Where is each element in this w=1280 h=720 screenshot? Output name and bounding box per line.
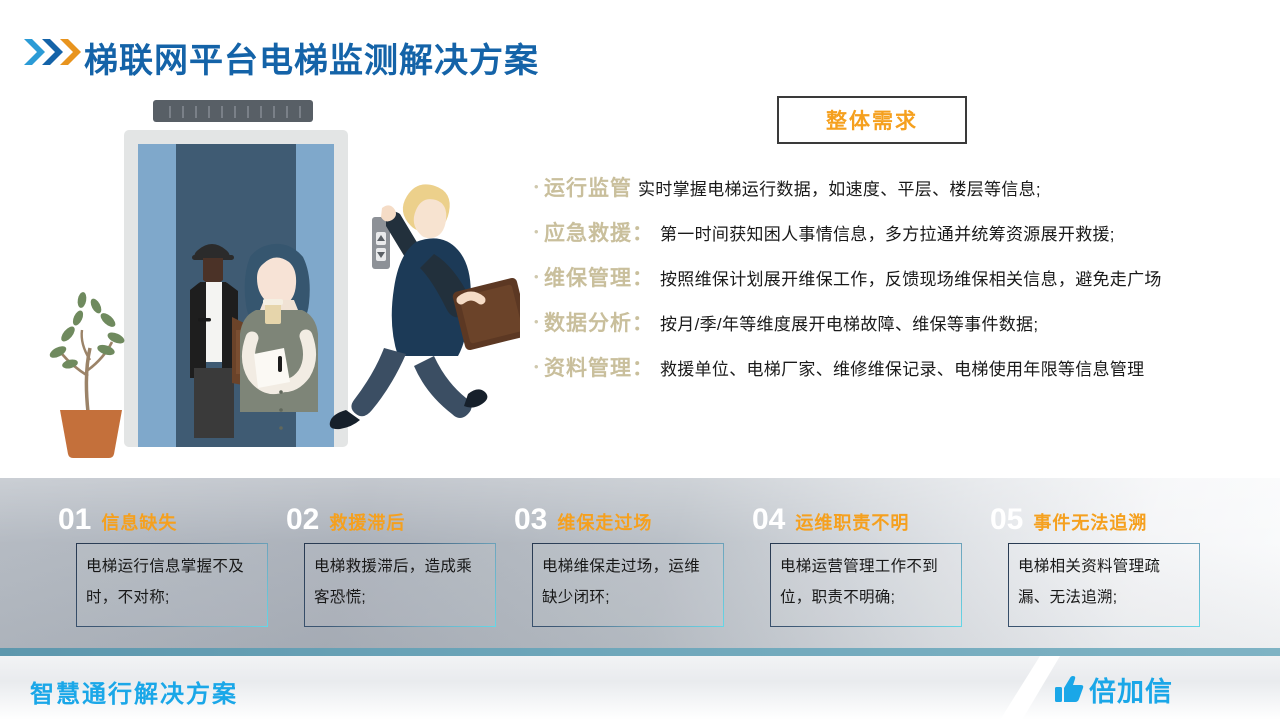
page-header: 梯联网平台电梯监测解决方案: [0, 0, 1280, 92]
overall-requirement-label: 整体需求: [826, 105, 918, 135]
card-title: 维保走过场: [557, 508, 652, 538]
requirement-label: 数据分析：: [544, 307, 654, 337]
requirement-label: 运行监管: [544, 172, 632, 202]
card-title: 信息缺失: [101, 508, 177, 538]
bullet-dot-icon: •: [534, 360, 544, 373]
person-walking-with-briefcase: [330, 184, 520, 429]
passenger-woman-with-coffee: [240, 244, 318, 430]
card-body: 电梯运行信息掌握不及时，不对称;: [76, 543, 268, 627]
card-body: 电梯运营管理工作不到位，职责不明确;: [770, 543, 962, 627]
list-item: • 运行监管 实时掌握电梯运行数据，如速度、平层、楼层等信息;: [534, 172, 1264, 217]
card-text: 电梯相关资料管理疏漏、无法追溯;: [1018, 551, 1190, 613]
card-text: 电梯维保走过场，运维缺少闭环;: [542, 551, 714, 613]
elevator-lobby-illustration: [20, 92, 520, 462]
card-text: 电梯运营管理工作不到位，职责不明确;: [780, 551, 952, 613]
card-number: 03: [514, 505, 547, 535]
card-number: 04: [752, 505, 785, 535]
overall-requirement-box: 整体需求: [777, 96, 967, 144]
footer-title: 智慧通行解决方案: [30, 674, 238, 709]
card-title: 事件无法追溯: [1033, 508, 1147, 538]
card-body: 电梯相关资料管理疏漏、无法追溯;: [1008, 543, 1200, 627]
pain-point-card-02: 02 救援滞后 电梯救援滞后，造成乘客恐慌;: [278, 505, 518, 627]
pain-points-cards: 01 信息缺失 电梯运行信息掌握不及时，不对称; 02 救援滞后 电梯救援滞后，…: [0, 505, 1280, 640]
brand-name: 倍加信: [1089, 670, 1173, 709]
card-number: 05: [990, 505, 1023, 535]
card-header: 04 运维职责不明: [744, 505, 984, 539]
bullet-dot-icon: •: [534, 180, 544, 193]
pain-point-card-05: 05 事件无法追溯 电梯相关资料管理疏漏、无法追溯;: [982, 505, 1222, 627]
pain-point-card-01: 01 信息缺失 电梯运行信息掌握不及时，不对称;: [50, 505, 290, 627]
requirement-text: 实时掌握电梯运行数据，如速度、平层、楼层等信息;: [638, 175, 1041, 200]
list-item: • 数据分析： 按月/季/年等维度展开电梯故障、维保等事件数据;: [534, 307, 1264, 352]
potted-plant: [48, 291, 126, 458]
card-number: 02: [286, 505, 319, 535]
card-number: 01: [58, 505, 91, 535]
card-body: 电梯维保走过场，运维缺少闭环;: [532, 543, 724, 627]
page-title: 梯联网平台电梯监测解决方案: [84, 33, 539, 82]
card-body: 电梯救援滞后，造成乘客恐慌;: [304, 543, 496, 627]
requirement-label: 资料管理：: [544, 352, 654, 382]
thumbs-up-icon: [1055, 676, 1085, 704]
requirement-text: 按照维保计划展开维保工作，反馈现场维保相关信息，避免走广场: [660, 265, 1162, 290]
card-text: 电梯救援滞后，造成乘客恐慌;: [314, 551, 486, 613]
brand-logo: 倍加信: [1055, 670, 1173, 709]
page-footer: 智慧通行解决方案 倍加信: [0, 656, 1280, 720]
list-item: • 应急救援： 第一时间获知困人事情信息，多方拉通并统筹资源展开救援;: [534, 217, 1264, 262]
card-header: 03 维保走过场: [506, 505, 746, 539]
list-item: • 维保管理： 按照维保计划展开维保工作，反馈现场维保相关信息，避免走广场: [534, 262, 1264, 307]
pain-point-card-03: 03 维保走过场 电梯维保走过场，运维缺少闭环;: [506, 505, 746, 627]
card-title: 救援滞后: [329, 508, 405, 538]
card-title: 运维职责不明: [795, 508, 909, 538]
overhead-floor-indicator-sign: [153, 100, 313, 122]
triple-chevron-right-icon: [22, 36, 84, 68]
bullet-dot-icon: •: [534, 315, 544, 328]
card-text: 电梯运行信息掌握不及时，不对称;: [86, 551, 258, 613]
list-item: • 资料管理： 救援单位、电梯厂家、维修维保记录、电梯使用年限等信息管理: [534, 352, 1264, 397]
requirement-list: • 运行监管 实时掌握电梯运行数据，如速度、平层、楼层等信息; • 应急救援： …: [534, 172, 1264, 397]
card-header: 05 事件无法追溯: [982, 505, 1222, 539]
requirement-text: 按月/季/年等维度展开电梯故障、维保等事件数据;: [660, 310, 1038, 335]
card-header: 02 救援滞后: [278, 505, 518, 539]
bullet-dot-icon: •: [534, 270, 544, 283]
requirement-text: 第一时间获知困人事情信息，多方拉通并统筹资源展开救援;: [660, 220, 1115, 245]
card-header: 01 信息缺失: [50, 505, 290, 539]
requirement-label: 应急救援：: [544, 217, 654, 247]
bullet-dot-icon: •: [534, 225, 544, 238]
requirement-label: 维保管理：: [544, 262, 654, 292]
pain-point-card-04: 04 运维职责不明 电梯运营管理工作不到位，职责不明确;: [744, 505, 984, 627]
requirement-text: 救援单位、电梯厂家、维修维保记录、电梯使用年限等信息管理: [660, 355, 1144, 380]
band-accent-stripe: [0, 648, 1280, 656]
